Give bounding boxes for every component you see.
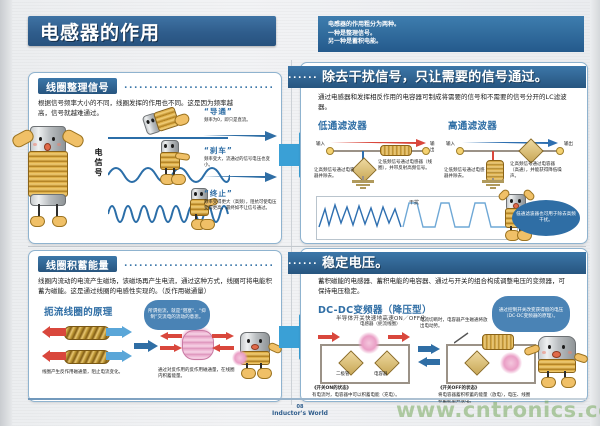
choke-arrow-right-blue — [106, 326, 132, 338]
dcdc-switch-open-icon — [454, 332, 470, 344]
intro-line-2: 一种是整理信号。 — [328, 30, 584, 39]
choke-arrow-right-blue-2 — [106, 350, 132, 362]
lowpass-ground-icon — [352, 180, 374, 190]
highpass-title: 高通滤波器 — [448, 118, 497, 132]
state-brake-desc: 频率变大，流通过的信号电压也变小。 — [204, 157, 276, 169]
dcdc-on-output-arrow — [388, 332, 410, 342]
dcdc-on-input-arrow — [318, 332, 340, 342]
page-background: 电感器的作用 电感器的作用粗分为两种。 一种是整理信号。 另一种是蓄积电能。 线… — [0, 0, 600, 426]
lowpass-title: 低通滤波器 — [318, 118, 367, 132]
body-text-energy: 线圈内流动的电流产生磁场，该磁场再产生电流，通过这种方式，线圈可将电能积蓄为磁能… — [38, 276, 274, 296]
intro-banner: 电感器的作用粗分为两种。 一种是整理信号。 另一种是蓄积电能。 — [318, 16, 584, 52]
page-left-edge — [0, 0, 12, 426]
dots-energy: .............................. — [124, 256, 284, 272]
state-brake-name: “刹车” — [204, 145, 276, 156]
page-title-text: 电感器的作用 — [40, 18, 160, 45]
highpass-blue-arrow — [462, 138, 558, 148]
page-title: 电感器的作用 — [28, 16, 276, 46]
signal-label: 电信号 — [93, 148, 104, 178]
section-heading-voltage-label: 稳定电压。 — [322, 252, 389, 271]
state-stop: “终止” 频率变得更大（高频），阻抗可使电压变得更高，最终如不让信号通过。 — [204, 188, 278, 212]
lowpass-out-label: 输出 — [430, 142, 438, 154]
dcdc-diode-label: 二极管 — [336, 372, 350, 378]
dots-signal: .............................. — [124, 78, 284, 94]
dcdc-note-on-title: 《开关ON的状态》 — [312, 386, 408, 392]
state-stop-desc: 频率变得更大（高频），阻抗可使电压变得更高，最终如不让信号通过。 — [204, 200, 278, 212]
choke-title: 扼流线圈的原理 — [44, 304, 113, 318]
dcdc-swap-arrows — [418, 344, 440, 368]
section-heading-voltage: 稳定电压。 — [322, 251, 389, 271]
choke-arrow-left-red — [42, 326, 66, 338]
page-right-edge — [590, 0, 600, 426]
choke-arrow-left-red-2 — [42, 350, 66, 362]
body-text-voltage: 蓄积磁能的电感器、蓄积电能的电容器、通过与开关的组合构成调整电压的变频器，可保持… — [318, 276, 568, 296]
state-stop-name: “终止” — [204, 188, 278, 199]
choke-note-left: 线圈产生反作用磁通量，阻止电流变化。 — [42, 370, 126, 376]
choke-energy-coil: 通过对反作用的反作用磁通量，在线圈内积蓄能量。 — [160, 322, 230, 380]
lowpass-note-right: 让低频信号通过电感器（线圈），并带反射高频信号。 — [378, 160, 432, 172]
lowpass-note-left: 让高频信号通过电容器并除去。 — [314, 168, 358, 180]
mascot-coil-voltage — [530, 334, 586, 390]
mascot-coil-braking — [155, 140, 191, 184]
choke-arrow-pair-right — [212, 332, 234, 354]
state-conduction-desc: 频率为0，即只是直流。 — [204, 118, 276, 124]
dcdc-circuit-on: 二极管 电容器 《开关ON的状态》 有电流时，电容器中可以积蓄电能（充电）。 — [316, 330, 416, 394]
dcdc-inductor-label: 电感器（扼流线圈） — [360, 322, 410, 328]
highpass-note-left: 让低频信号通过电感器并除去。 — [444, 168, 488, 180]
arrow-brake — [203, 172, 277, 182]
section-heading-signal-label: 线圈整理信号 — [46, 79, 109, 94]
state-conduction: “导通” 频率为0，即只是直流。 — [204, 106, 276, 124]
lowpass-circuit: 输入 输出 让高频信号通过电容器并除去。 让低频信号通过电感器（线圈），并带反射… — [316, 132, 438, 192]
highpass-ground-icon — [482, 180, 504, 190]
intro-line-1: 电感器的作用粗分为两种。 — [328, 21, 584, 30]
bubble-energy: 所谓扼流，就是“阻塞”、“抑制”交流电的流动的意思。 — [144, 300, 210, 330]
bubble-voltage: 通过控制开关改变获得假的电压（DC-DC变频器的原理）。 — [492, 296, 570, 332]
site-watermark: www.cntronics.com — [396, 398, 600, 422]
row-divider — [28, 246, 586, 247]
arrow-conduction — [203, 131, 277, 141]
choke-springs: 线圈产生反作用磁通量，阻止电流变化。 — [42, 322, 132, 380]
dcdc-note-off-title: 《开关OFF的状态》 — [438, 386, 534, 392]
mascot-coil-large — [12, 120, 86, 235]
body-text-filter: 通过电感器和发挥相反作用的电容器可制成将需要的信号和不需要的信号分开的LC滤波器… — [318, 92, 568, 112]
mascot-coil-energy — [232, 330, 280, 382]
section-heading-energy: 线圈积蓄能量 — [38, 256, 117, 272]
arrow-choke-mid — [134, 340, 158, 352]
dcdc-note-top: 电流切断时，电容器产生磁通将放出电动势。 — [420, 318, 490, 330]
section-heading-signal: 线圈整理信号 — [38, 78, 117, 94]
dots-voltage: ...... — [288, 254, 322, 270]
state-conduction-name: “导通” — [204, 106, 276, 117]
intro-line-3: 另一种是蓄积电能。 — [328, 38, 584, 47]
bubble-filter: 低通滤波器也可用于除去高频干扰。 — [512, 200, 580, 236]
choke-arrow-pair-left — [160, 332, 182, 354]
dcdc-capacitor-label: 电容器 — [374, 372, 388, 378]
dcdc-subtitle: 半导体开关快速地高速ON／OFF化 — [336, 314, 426, 322]
noise-label: 干扰 — [409, 199, 419, 206]
lowpass-in-label: 输入 — [316, 142, 325, 148]
section-heading-energy-label: 线圈积蓄能量 — [46, 257, 109, 272]
highpass-note-right: 让高频信号通过电容器（高通），并能获得降低噪声。 — [510, 162, 562, 180]
dots-filter: ...... — [288, 68, 322, 84]
dcdc-circuit-off: 《开关OFF的状态》 将电容器蓄积积蓄的能量（放电），电压、线圈积蓄能量并放电。 — [442, 330, 542, 394]
state-brake: “刹车” 频率变大，流通过的信号电压也变小。 — [204, 145, 276, 169]
highpass-out-label: 输出 — [564, 142, 573, 148]
highpass-in-label: 输入 — [446, 142, 455, 148]
section-heading-filter: 除去干扰信号，只让需要的信号通过。 — [322, 65, 548, 85]
noise-waveform-chart: 干扰 — [316, 196, 518, 240]
section-heading-filter-label: 除去干扰信号，只让需要的信号通过。 — [322, 66, 548, 85]
highpass-circuit: 输入 输出 让低频信号通过电感器并除去。 让高频信号通过电容器（高通），并能获得… — [446, 132, 574, 192]
choke-note-right: 通过对反作用的反作用磁通量，在线圈内积蓄能量。 — [158, 368, 238, 380]
